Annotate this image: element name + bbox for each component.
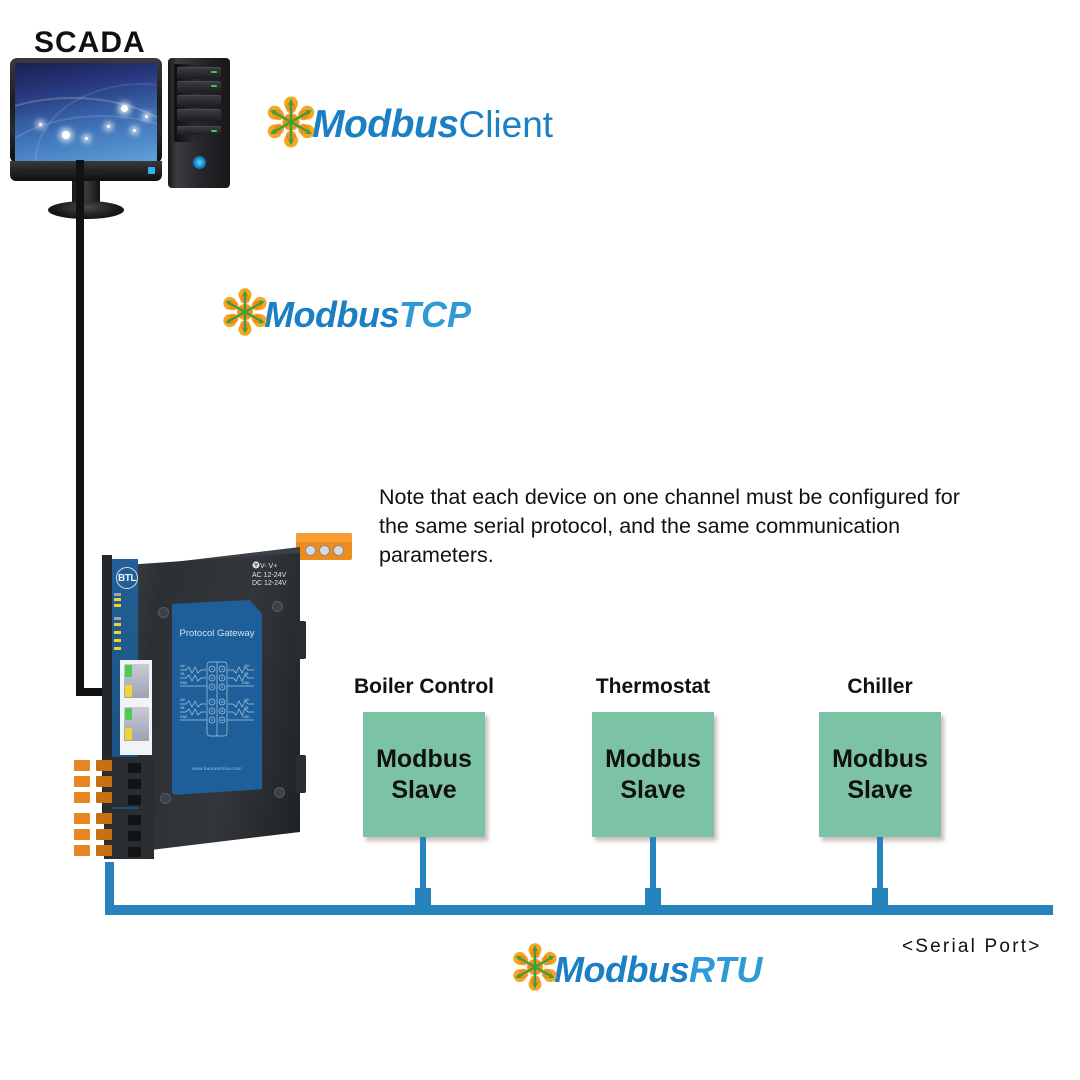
svg-text:1B-: 1B- <box>180 672 185 676</box>
device-box-chiller[interactable]: Modbus Slave <box>819 712 941 837</box>
modbus-client-suffix: Client <box>458 104 553 146</box>
svg-text:4A+: 4A+ <box>244 698 250 702</box>
orange-terminal-lever <box>74 776 90 787</box>
modbus-logo-icon <box>262 93 320 156</box>
svg-text:GND: GND <box>180 681 188 685</box>
device-line1: Modbus <box>376 745 472 773</box>
gateway-label-panel: Protocol Gateway www.baonetchina.com <box>172 600 262 795</box>
orange-terminal-lever <box>96 829 112 840</box>
svg-text:5: 5 <box>221 676 223 680</box>
svg-text:7: 7 <box>211 700 213 704</box>
btl-brand-badge: BTL <box>116 567 138 589</box>
svg-text:6: 6 <box>221 685 223 689</box>
svg-text:9: 9 <box>211 718 213 722</box>
port-led-green <box>125 665 132 677</box>
device-drop-line <box>650 837 656 892</box>
device-drop-line <box>877 837 883 892</box>
device-box-thermostat[interactable]: Modbus Slave <box>592 712 714 837</box>
chassis-screw <box>272 601 283 612</box>
modbus-rtu-suffix: RTU <box>689 949 762 991</box>
device-title-chiller: Chiller <box>790 675 970 699</box>
modbus-wordmark: Modbus <box>554 949 689 991</box>
serial-bus-line <box>105 905 1053 915</box>
ground-symbol-icon <box>252 561 260 569</box>
scada-label: SCADA <box>34 26 146 60</box>
din-rail-clip <box>296 621 306 659</box>
computer-monitor-icon <box>10 58 162 181</box>
orange-terminal-lever <box>96 760 112 771</box>
device-title-boiler-control: Boiler Control <box>334 675 514 699</box>
chassis-screw <box>160 793 171 804</box>
note-text: Note that each device on one channel mus… <box>379 483 969 570</box>
svg-text:4: 4 <box>221 667 223 671</box>
svg-text:2: 2 <box>211 676 213 680</box>
device-line2: Slave <box>620 776 685 804</box>
led-indicator <box>114 593 121 596</box>
svg-text:3A+: 3A+ <box>180 698 186 702</box>
panel-url: www.baonetchina.com <box>172 766 262 771</box>
chassis-screw <box>158 607 169 618</box>
svg-text:2A+: 2A+ <box>244 664 250 668</box>
svg-text:12: 12 <box>220 718 224 722</box>
modbus-tcp-label: Modbus TCP <box>218 285 471 344</box>
device-line1: Modbus <box>605 745 701 773</box>
led-indicator <box>114 623 121 626</box>
svg-text:2B-: 2B- <box>244 672 249 676</box>
svg-text:11: 11 <box>220 709 223 713</box>
device-box-boiler-control[interactable]: Modbus Slave <box>363 712 485 837</box>
power-rating-text: V- V+ AC 12-24V DC 12-24V <box>252 561 287 589</box>
modbus-rtu-label: Modbus RTU <box>508 940 762 999</box>
orange-terminal-lever <box>74 829 90 840</box>
chassis-screw <box>274 787 285 798</box>
led-indicator <box>114 647 121 650</box>
modbus-wordmark: Modbus <box>312 103 458 147</box>
svg-text:3B-: 3B- <box>180 706 185 710</box>
device-drop-line <box>420 837 426 892</box>
orange-terminal-lever <box>74 760 90 771</box>
device-line2: Slave <box>391 776 456 804</box>
orange-terminal-lever <box>96 792 112 803</box>
led-indicator <box>114 604 121 607</box>
modbus-client-label: Modbus Client <box>262 93 553 156</box>
orange-terminal-lever <box>74 845 90 856</box>
svg-text:GND: GND <box>242 681 250 685</box>
computer-tower-icon <box>168 58 230 188</box>
orange-terminal-lever <box>74 792 90 803</box>
svg-text:1A+: 1A+ <box>180 664 186 668</box>
port-led-yellow <box>125 685 132 697</box>
panel-title: Protocol Gateway <box>172 628 262 639</box>
device-line2: Slave <box>847 776 912 804</box>
svg-text:GND: GND <box>242 715 250 719</box>
din-rail-clip <box>296 755 306 793</box>
led-indicator <box>114 617 121 620</box>
modbus-wordmark: Modbus <box>264 294 399 336</box>
serial-port-label: <Serial Port> <box>902 936 1042 958</box>
svg-text:1: 1 <box>211 667 213 671</box>
protocol-gateway-device: BTL V- V+ AC 12-24V DC 12-24V Protocol G… <box>70 525 320 875</box>
orange-terminal-lever <box>74 813 90 824</box>
modbus-logo-icon <box>508 940 562 999</box>
modbus-logo-icon <box>218 285 272 344</box>
device-title-thermostat: Thermostat <box>563 675 743 699</box>
svg-text:10: 10 <box>220 700 224 704</box>
terminal-wiring-diagram: 1A+1B-GND 3A+3B-GND 2A+2B-GND 4A+4B-GND … <box>176 658 258 743</box>
port-led-green <box>125 708 132 720</box>
orange-terminal-lever <box>96 776 112 787</box>
orange-terminal-lever <box>96 813 112 824</box>
led-indicator <box>114 639 121 642</box>
modbus-tcp-suffix: TCP <box>399 294 471 336</box>
power-terminal-connector <box>296 533 352 560</box>
port-led-yellow <box>125 728 132 740</box>
svg-text:8: 8 <box>211 709 213 713</box>
svg-text:3: 3 <box>211 685 213 689</box>
device-line1: Modbus <box>832 745 928 773</box>
led-indicator <box>114 631 121 634</box>
led-indicator <box>114 598 121 601</box>
svg-text:4B-: 4B- <box>244 706 249 710</box>
svg-text:GND: GND <box>180 715 188 719</box>
orange-terminal-lever <box>96 845 112 856</box>
